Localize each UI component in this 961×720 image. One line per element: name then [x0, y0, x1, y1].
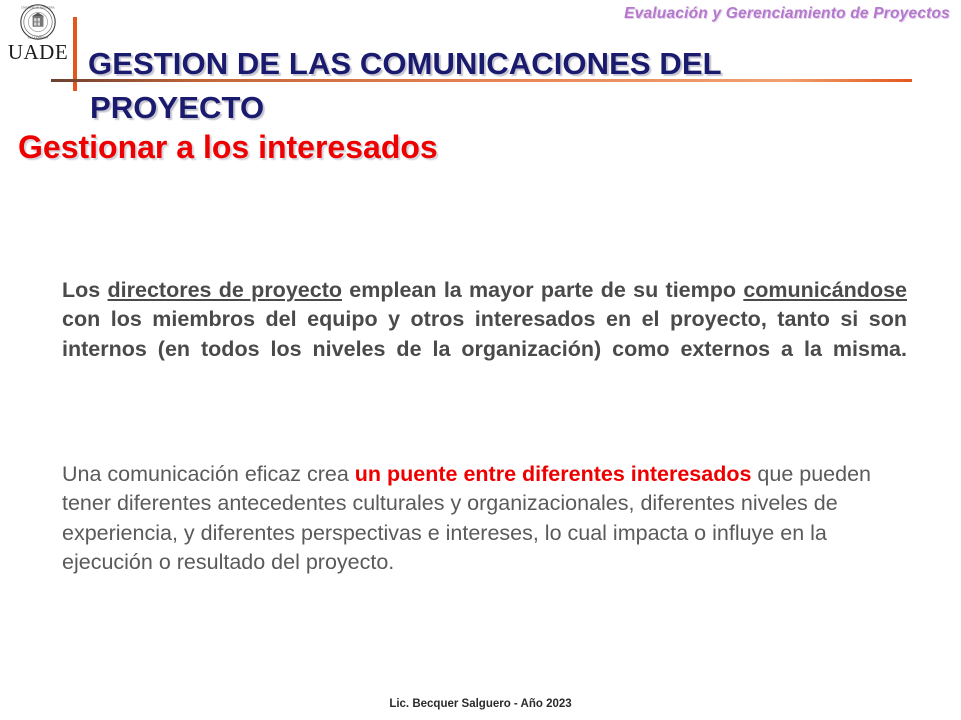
p2-seg-1: Una comunicación eficaz crea — [62, 462, 355, 486]
university-crest-icon: UNIVERSIDAD ARGENTINA DE LA EMPRESA — [19, 3, 57, 41]
slide-canvas: Evaluación y Gerenciamiento de Proyectos… — [0, 0, 961, 720]
body-paragraph-one: Los directores de proyecto emplean la ma… — [62, 276, 907, 394]
p2-highlight-puente: un puente entre diferentes interesados — [355, 462, 752, 486]
page-subtitle: Gestionar a los interesados — [18, 127, 438, 167]
p1-seg-1: Los — [62, 278, 108, 302]
page-title-line-1: GESTION DE LAS COMUNICACIONES DEL — [88, 46, 722, 81]
svg-text:DE LA EMPRESA: DE LA EMPRESA — [28, 36, 48, 39]
course-header-label: Evaluación y Gerenciamiento de Proyectos — [624, 5, 950, 23]
body-paragraph-two: Una comunicación eficaz crea un puente e… — [62, 460, 892, 578]
page-title: GESTION DE LAS COMUNICACIONES DEL PROYEC… — [88, 42, 888, 130]
p1-underlined-comunicandose: comunicándose — [743, 278, 907, 302]
svg-text:UNIVERSIDAD ARGENTINA: UNIVERSIDAD ARGENTINA — [21, 6, 54, 9]
p1-seg-3: emplean la mayor parte de su tiempo — [342, 278, 743, 302]
uade-logo: UNIVERSIDAD ARGENTINA DE LA EMPRESA UADE — [6, 3, 70, 63]
p1-underlined-directores: directores de proyecto — [108, 278, 342, 302]
page-title-line-2: PROYECTO — [88, 86, 888, 130]
footer-credit: Lic. Becquer Salguero - Año 2023 — [0, 698, 961, 710]
p1-seg-5: con los miembros del equipo y otros inte… — [62, 307, 907, 361]
uade-wordmark: UADE — [6, 42, 70, 63]
